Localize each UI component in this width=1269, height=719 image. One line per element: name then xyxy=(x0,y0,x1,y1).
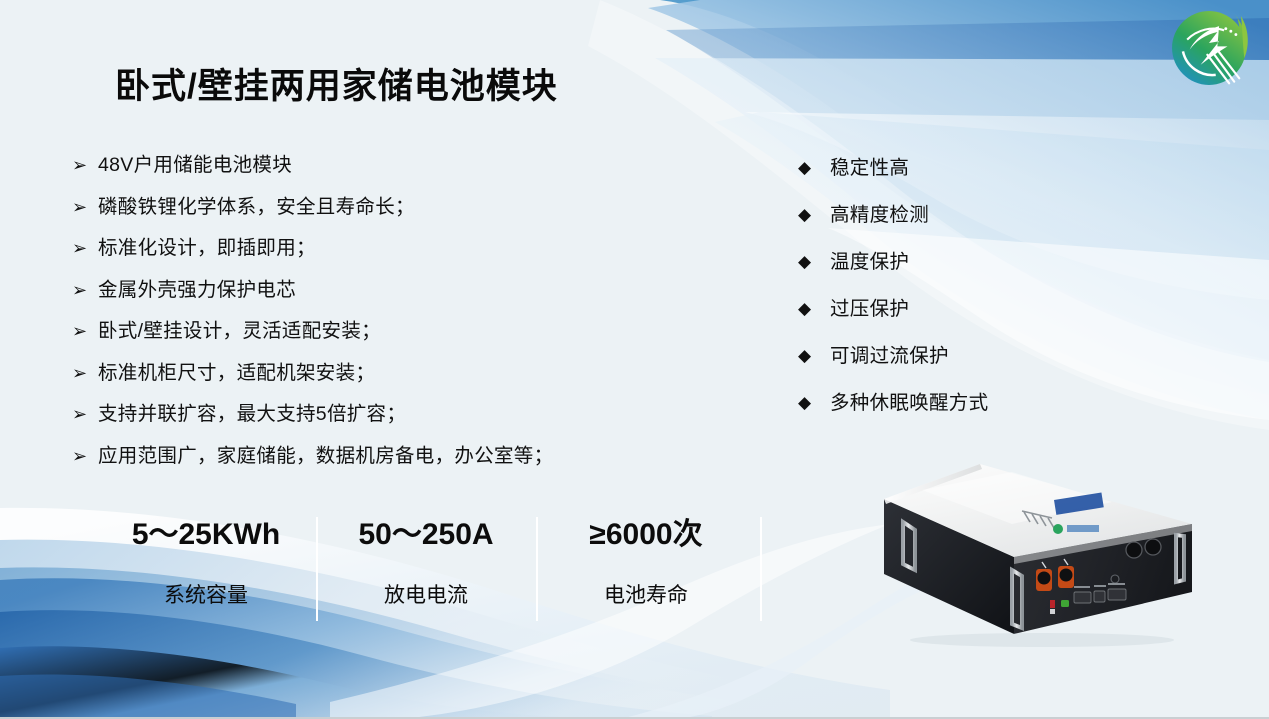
list-item: ➢ 标准化设计，即插即用； xyxy=(72,235,712,261)
spec-label: 电池寿命 xyxy=(536,579,756,613)
feature-text: 可调过流保护 xyxy=(830,343,949,369)
feature-text: 过压保护 xyxy=(830,296,909,322)
list-item: ➢ 支持并联扩容，最大支持5倍扩容； xyxy=(72,401,712,427)
feature-text: 支持并联扩容，最大支持5倍扩容； xyxy=(98,401,406,427)
spec-value: 50～250A xyxy=(316,513,536,557)
list-item: ◆ 过压保护 xyxy=(798,296,1098,322)
features-left-column: ➢ 48V户用储能电池模块 ➢ 磷酸铁锂化学体系，安全且寿命长； ➢ 标准化设计… xyxy=(72,152,712,484)
arrow-bullet-icon: ➢ xyxy=(72,318,98,344)
spec-item-capacity: 5～25KWh 系统容量 xyxy=(96,513,316,623)
arrow-bullet-icon: ➢ xyxy=(72,443,98,469)
arrow-bullet-icon: ➢ xyxy=(72,194,98,220)
diamond-bullet-icon: ◆ xyxy=(798,249,830,275)
arrow-bullet-icon: ➢ xyxy=(72,401,98,427)
feature-text: 温度保护 xyxy=(830,249,909,275)
feature-text: 多种休眠唤醒方式 xyxy=(830,390,988,416)
battery-module-photo xyxy=(862,452,1204,652)
diamond-bullet-icon: ◆ xyxy=(798,343,830,369)
list-item: ➢ 金属外壳强力保护电芯 xyxy=(72,277,712,303)
list-item: ➢ 磷酸铁锂化学体系，安全且寿命长； xyxy=(72,194,712,220)
page-title: 卧式/壁挂两用家储电池模块 xyxy=(115,58,558,109)
list-item: ➢ 标准机柜尺寸，适配机架安装； xyxy=(72,360,712,386)
diamond-bullet-icon: ◆ xyxy=(798,296,830,322)
list-item: ◆ 高精度检测 xyxy=(798,202,1098,228)
feature-text: 稳定性高 xyxy=(830,155,909,181)
diamond-bullet-icon: ◆ xyxy=(798,390,830,416)
spec-label: 放电电流 xyxy=(316,579,536,613)
diamond-bullet-icon: ◆ xyxy=(798,202,830,228)
feature-text: 标准化设计，即插即用； xyxy=(98,235,316,261)
list-item: ➢ 卧式/壁挂设计，灵活适配安装； xyxy=(72,318,712,344)
diamond-bullet-icon: ◆ xyxy=(798,155,830,181)
spec-item-cycle-life: ≥6000次 电池寿命 xyxy=(536,513,756,623)
feature-text: 卧式/壁挂设计，灵活适配安装； xyxy=(98,318,381,344)
slide-canvas: 卧式/壁挂两用家储电池模块 ➢ 48V户用储能电池模块 ➢ 磷酸铁锂化学体系，安… xyxy=(0,0,1269,719)
feature-text: 金属外壳强力保护电芯 xyxy=(98,277,296,303)
features-right-column: ◆ 稳定性高 ◆ 高精度检测 ◆ 温度保护 ◆ 过压保护 ◆ 可调过流保护 ◆ … xyxy=(798,155,1098,437)
feature-text: 标准机柜尺寸，适配机架安装； xyxy=(98,360,375,386)
spec-value: ≥6000次 xyxy=(536,513,756,557)
list-item: ◆ 温度保护 xyxy=(798,249,1098,275)
spec-label: 系统容量 xyxy=(96,579,316,613)
list-item: ◆ 多种休眠唤醒方式 xyxy=(798,390,1098,416)
spec-value: 5～25KWh xyxy=(96,513,316,557)
spec-item-discharge-current: 50～250A 放电电流 xyxy=(316,513,536,623)
list-item: ◆ 可调过流保护 xyxy=(798,343,1098,369)
arrow-bullet-icon: ➢ xyxy=(72,277,98,303)
list-item: ➢ 48V户用储能电池模块 xyxy=(72,152,712,178)
arrow-bullet-icon: ➢ xyxy=(72,235,98,261)
list-item: ◆ 稳定性高 xyxy=(798,155,1098,181)
feature-text: 48V户用储能电池模块 xyxy=(98,152,292,178)
arrow-bullet-icon: ➢ xyxy=(72,152,98,178)
feature-text: 应用范围广，家庭储能，数据机房备电，办公室等； xyxy=(98,443,553,469)
company-leaf-logo xyxy=(1167,6,1251,90)
list-item: ➢ 应用范围广，家庭储能，数据机房备电，办公室等； xyxy=(72,443,712,469)
key-specs-strip: 5～25KWh 系统容量 50～250A 放电电流 ≥6000次 电池寿命 xyxy=(96,513,756,623)
feature-text: 磷酸铁锂化学体系，安全且寿命长； xyxy=(98,194,415,220)
arrow-bullet-icon: ➢ xyxy=(72,360,98,386)
feature-text: 高精度检测 xyxy=(830,202,929,228)
